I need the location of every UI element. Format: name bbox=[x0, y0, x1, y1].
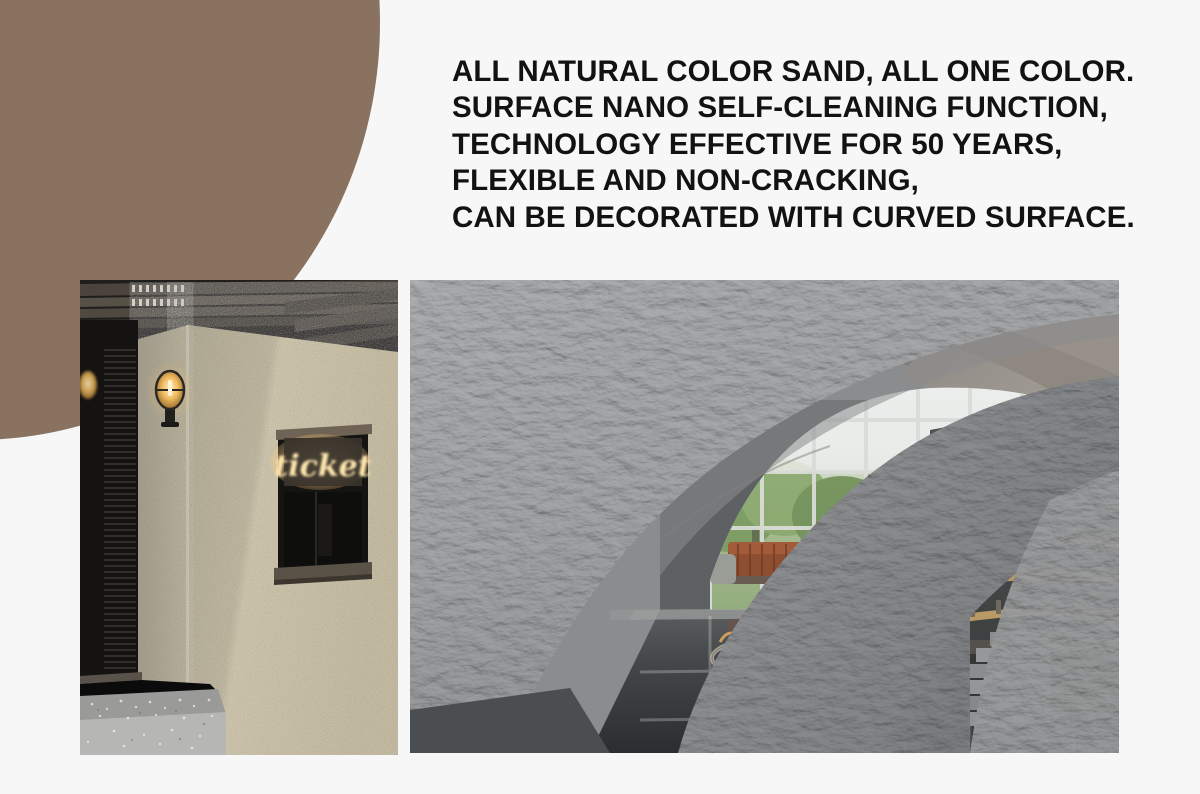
headline-line-2: SURFACE NANO SELF-CLEANING FUNCTION, bbox=[452, 90, 1152, 126]
entry-step bbox=[80, 672, 226, 755]
neon-ticket-text: ticket bbox=[274, 449, 371, 484]
headline-line-4: FLEXIBLE AND NON-CRACKING, bbox=[452, 163, 1152, 199]
headline-line-3: TECHNOLOGY EFFECTIVE FOR 50 YEARS, bbox=[452, 127, 1152, 163]
ticket-window-recess: ticket bbox=[270, 424, 372, 585]
headline-line-1: ALL NATURAL COLOR SAND, ALL ONE COLOR. bbox=[452, 54, 1152, 90]
headline-block: ALL NATURAL COLOR SAND, ALL ONE COLOR. S… bbox=[452, 54, 1152, 236]
photo-building-exterior-sand-wall: ticket bbox=[80, 280, 398, 755]
exterior-scene: ticket bbox=[80, 280, 398, 755]
headline-line-5: CAN BE DECORATED WITH CURVED SURFACE. bbox=[452, 200, 1152, 236]
neon-ticket-sign: ticket bbox=[274, 449, 371, 484]
photo-lobby-curved-arches bbox=[410, 280, 1119, 753]
interior-scene bbox=[410, 280, 1119, 753]
